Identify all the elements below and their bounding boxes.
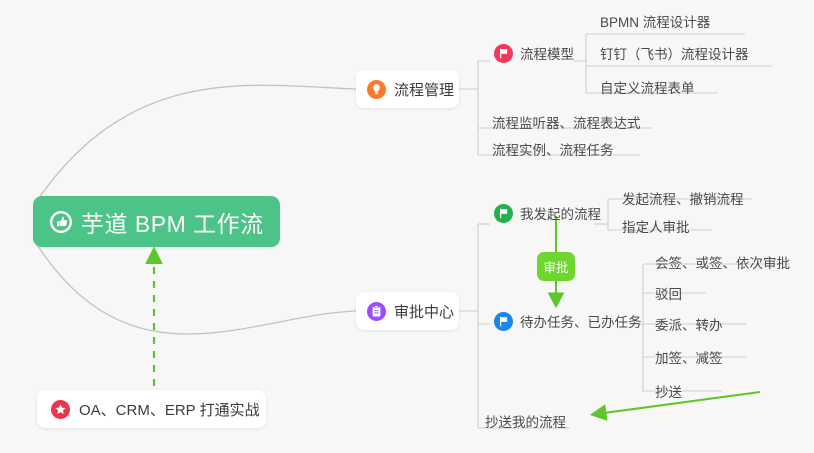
node-delegate-transfer[interactable]: 委派、转办 <box>655 314 723 334</box>
node-label-bpmn-designer: BPMN 流程设计器 <box>600 11 710 31</box>
flag-icon <box>494 204 513 223</box>
root-node[interactable]: 芋道 BPM 工作流 <box>33 196 280 247</box>
node-label-liucheng-moxing: 流程模型 <box>520 43 574 63</box>
mindmap-canvas: 芋道 BPM 工作流 流程管理 审批中心 <box>0 0 814 453</box>
branch-node-liucheng-guanli[interactable]: 流程管理 <box>356 70 459 108</box>
node-my-started[interactable]: 我发起的流程 <box>494 203 601 223</box>
node-start-cancel[interactable]: 发起流程、撤销流程 <box>622 188 744 208</box>
node-label-custom-form: 自定义流程表单 <box>600 77 695 97</box>
root-label: 芋道 BPM 工作流 <box>81 205 264 239</box>
node-label-todo-done: 待办任务、已办任务 <box>520 311 642 331</box>
flag-icon <box>494 44 513 63</box>
bottom-node-oa-crm-erp[interactable]: OA、CRM、ERP 打通实战 <box>37 390 266 428</box>
node-label-instance-task: 流程实例、流程任务 <box>492 139 614 159</box>
node-label-listener-expression: 流程监听器、流程表达式 <box>492 112 641 132</box>
node-listener-expression[interactable]: 流程监听器、流程表达式 <box>492 112 641 132</box>
node-todo-done[interactable]: 待办任务、已办任务 <box>494 311 642 331</box>
node-dingtalk-feishu-designer[interactable]: 钉钉（飞书）流程设计器 <box>600 43 749 63</box>
node-add-remove-sign[interactable]: 加签、减签 <box>655 347 723 367</box>
thumbs-up-icon <box>50 211 72 233</box>
branch-node-shenpi-zhongxin[interactable]: 审批中心 <box>356 292 459 330</box>
node-label-reject: 驳回 <box>655 283 682 303</box>
node-label-cc: 抄送 <box>655 381 682 401</box>
wire-root-to-shenpi-zhongxin <box>34 240 356 334</box>
node-cc[interactable]: 抄送 <box>655 381 682 401</box>
node-cc-to-me[interactable]: 抄送我的流程 <box>485 411 566 431</box>
bottom-node-label: OA、CRM、ERP 打通实战 <box>79 399 260 420</box>
approve-badge[interactable]: 审批 <box>537 252 575 281</box>
approve-badge-label: 审批 <box>543 257 568 276</box>
node-label-multi-sign: 会签、或签、依次审批 <box>655 252 790 272</box>
node-bpmn-designer[interactable]: BPMN 流程设计器 <box>600 11 710 31</box>
wire-root-to-liucheng-guanli <box>34 85 356 205</box>
clipboard-icon <box>367 302 386 321</box>
node-label-add-remove-sign: 加签、减签 <box>655 347 723 367</box>
branch-label-liucheng-guanli: 流程管理 <box>394 79 454 100</box>
lightbulb-icon <box>367 80 386 99</box>
node-label-delegate-transfer: 委派、转办 <box>655 314 723 334</box>
node-multi-sign[interactable]: 会签、或签、依次审批 <box>655 252 790 272</box>
node-reject[interactable]: 驳回 <box>655 283 682 303</box>
node-label-cc-to-me: 抄送我的流程 <box>485 411 566 431</box>
node-instance-task[interactable]: 流程实例、流程任务 <box>492 139 614 159</box>
flag-icon <box>494 312 513 331</box>
node-custom-form[interactable]: 自定义流程表单 <box>600 77 695 97</box>
node-label-start-cancel: 发起流程、撤销流程 <box>622 188 744 208</box>
node-label-my-started: 我发起的流程 <box>520 203 601 223</box>
node-label-assigned-approve: 指定人审批 <box>622 216 690 236</box>
node-assigned-approve[interactable]: 指定人审批 <box>622 216 690 236</box>
branch-label-shenpi-zhongxin: 审批中心 <box>394 301 454 322</box>
node-liucheng-moxing[interactable]: 流程模型 <box>494 43 574 63</box>
star-icon <box>51 400 70 419</box>
node-label-dingtalk-feishu-designer: 钉钉（飞书）流程设计器 <box>600 43 749 63</box>
